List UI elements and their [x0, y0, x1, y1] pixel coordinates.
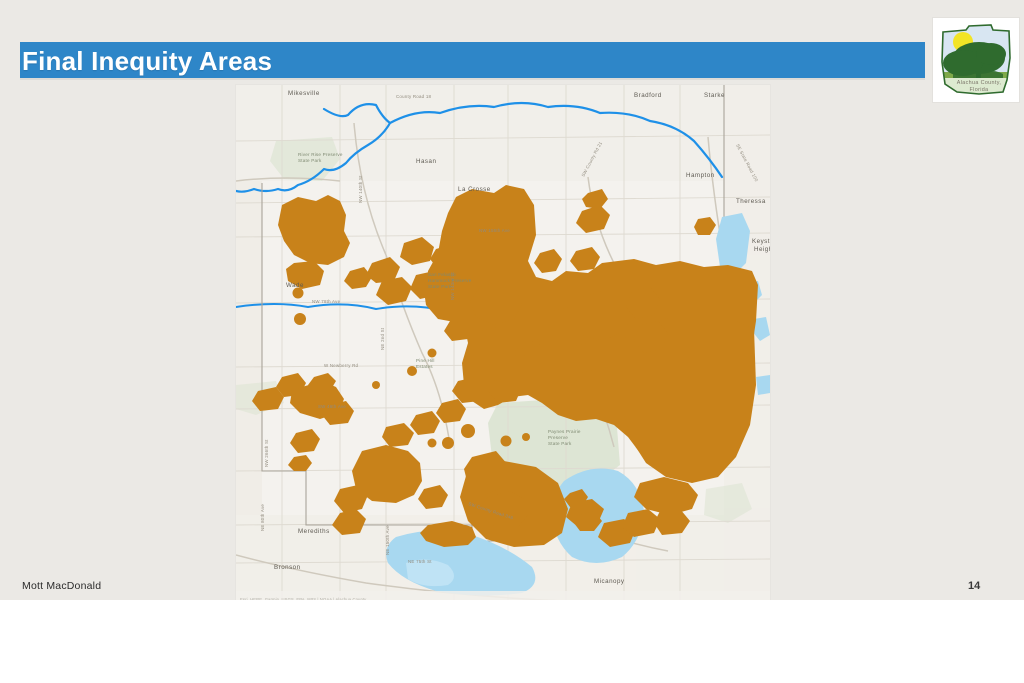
map-road-label-1: NW 156th Ave [479, 228, 510, 233]
map-town-label-5: Theressa [736, 198, 766, 205]
map-town-label-10: Micanopy [594, 578, 625, 585]
map-road-label-9: NE 80th Ave [260, 504, 265, 531]
map-park-label-3-0: Pine Hill [416, 358, 435, 363]
map-town-label-11: Keystone [752, 238, 770, 245]
slide-canvas: Final Inequity Areas [0, 0, 1024, 600]
map-park-label-0-1: State Park [298, 158, 322, 163]
county-seal-icon: Alachua County, Florida [933, 18, 1019, 102]
map-town-label-4: Hampton [686, 172, 715, 179]
map-park-label-0-0: River Rise Preserve [298, 152, 343, 157]
map-park-label-2-0: Paynes Prairie [548, 429, 581, 434]
map-town-label-12: Heights [754, 246, 770, 253]
map-attribution: Esri, HERE, Garmin, USGS, EPA, NPS | NOA… [240, 597, 367, 600]
map-park-label-2-2: State Park [548, 441, 572, 446]
alachua-county-logo: Alachua County, Florida [932, 17, 1020, 103]
map-road-label-5: NE 75th St [408, 559, 432, 564]
map-town-label-9: Bronson [274, 564, 301, 571]
map-park-label-1-1: Hammock Preserve [428, 278, 472, 283]
map-road-label-2: NW 78th Ave [312, 299, 341, 304]
map-town-label-6: La Crosse [458, 186, 491, 193]
map-town-label-1: Bradford [634, 92, 662, 99]
logo-line-1: Alachua County, [957, 80, 1002, 86]
map-road-label-3: W Newberry Rd [324, 363, 359, 368]
map-road-label-12: NW 266th St [264, 439, 269, 467]
map-road-label-4: SW 46th Ave [318, 404, 346, 409]
map-park-label-2-1: Preserve [548, 435, 568, 440]
map-graphic: MikesvilleBradfordStarkeHasanHamptonTher… [236, 85, 770, 600]
map-road-label-8: NW 140th St [358, 175, 363, 203]
logo-line-2: Florida [970, 87, 989, 93]
footer-brand: Mott MacDonald [22, 580, 101, 592]
map-town-label-8: Merediths [298, 528, 330, 535]
page-title: Final Inequity Areas [22, 45, 272, 77]
map-park-label-1-0: San Felasco [428, 272, 456, 277]
map-road-label-10: NE 150th Ave [385, 525, 390, 555]
map-town-label-0: Mikesville [288, 90, 320, 97]
map-town-label-2: Starke [704, 92, 725, 99]
map-park-label-3-1: Estates [416, 364, 433, 369]
map-road-label-0: County Road 18 [396, 94, 432, 99]
map-town-label-3: Hasan [416, 158, 436, 165]
inequity-areas-map[interactable]: MikesvilleBradfordStarkeHasanHamptonTher… [236, 85, 770, 600]
page-number: 14 [968, 580, 980, 592]
map-park-label-1-2: State Park [428, 284, 452, 289]
map-road-label-14: NE 2nd St [380, 327, 385, 350]
map-town-label-7: Wade [286, 282, 304, 289]
